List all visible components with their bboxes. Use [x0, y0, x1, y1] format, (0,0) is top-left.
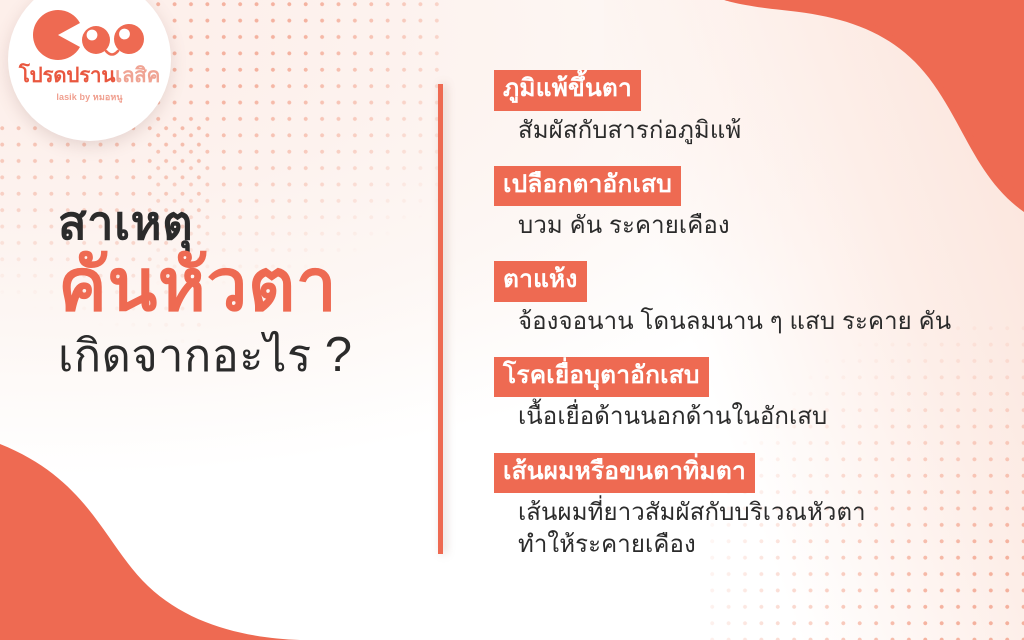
decorative-blob-bottom-left [0, 410, 300, 640]
headline-line-2: คันหัวตา [58, 245, 418, 327]
logo-wordmark: โปรดปรานเลสิค [19, 66, 160, 87]
logo-word-dark: โปรดปราน [19, 64, 115, 87]
cause-description: บวม คัน ระคายเคือง [494, 210, 994, 242]
headline-line-3-text: เกิดจากอะไร [58, 330, 312, 381]
headline-question-mark: ? [325, 328, 353, 382]
causes-list: ภูมิแพ้ขึ้นตา สัมผัสกับสารก่อภูมิแพ้ เปล… [494, 70, 994, 561]
cause-description-line-2: ทำให้ระคายเคือง [518, 529, 994, 561]
list-item: เปลือกตาอักเสบ บวม คัน ระคายเคือง [494, 166, 994, 243]
cause-badge: เปลือกตาอักเสบ [494, 166, 681, 207]
cause-badge: ตาแห้ง [494, 261, 587, 302]
cause-description: เส้นผมที่ยาวสัมผัสกับบริเวณหัวตา ทำให้ระ… [494, 497, 994, 561]
cause-description-line-1: เนื้อเยื่อด้านนอกด้านในอักเสบ [518, 403, 827, 430]
infographic-canvas: โปรดปรานเลสิค lasik by หมอหนู สาเหตุ คัน… [0, 0, 1024, 640]
list-item: ตาแห้ง จ้องจอนาน โดนลมนาน ๆ แสบ ระคาย คั… [494, 261, 994, 338]
logo-word-light: เลสิค [115, 64, 160, 87]
logo-subtitle: lasik by หมอหนู [56, 90, 122, 104]
cause-badge: ภูมิแพ้ขึ้นตา [494, 70, 641, 111]
list-item: ภูมิแพ้ขึ้นตา สัมผัสกับสารก่อภูมิแพ้ [494, 70, 994, 147]
koo-eye-mark-icon [32, 10, 148, 60]
cause-description: จ้องจอนาน โดนลมนาน ๆ แสบ ระคาย คัน [494, 306, 994, 338]
list-item: โรคเยื่อบุตาอักเสบ เนื้อเยื่อด้านนอกด้าน… [494, 357, 994, 434]
cause-description-line-1: บวม คัน ระคายเคือง [518, 212, 730, 239]
cause-badge: โรคเยื่อบุตาอักเสบ [494, 357, 709, 398]
cause-badge: เส้นผมหรือขนตาทิ่มตา [494, 453, 755, 494]
cause-description-line-1: เส้นผมที่ยาวสัมผัสกับบริเวณหัวตา [518, 499, 866, 526]
cause-description-line-1: จ้องจอนาน โดนลมนาน ๆ แสบ ระคาย คัน [518, 308, 951, 335]
list-item: เส้นผมหรือขนตาทิ่มตา เส้นผมที่ยาวสัมผัสก… [494, 453, 994, 562]
headline-block: สาเหตุ คันหัวตา เกิดจากอะไร ? [58, 198, 418, 383]
vertical-divider [438, 84, 443, 554]
cause-description: สัมผัสกับสารก่อภูมิแพ้ [494, 115, 994, 147]
cause-description-line-1: สัมผัสกับสารก่อภูมิแพ้ [518, 117, 741, 144]
headline-line-3: เกิดจากอะไร ? [58, 329, 418, 383]
headline-line-1: สาเหตุ [58, 198, 418, 247]
cause-description: เนื้อเยื่อด้านนอกด้านในอักเสบ [494, 401, 994, 433]
